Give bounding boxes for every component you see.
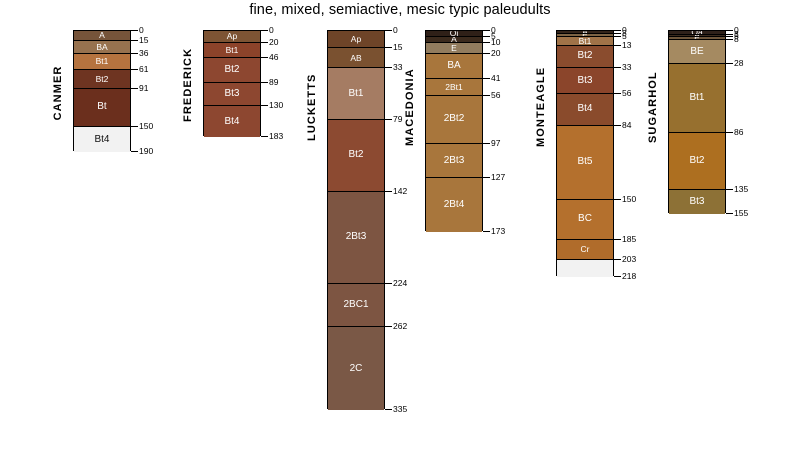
horizon-bt3: Bt3 bbox=[557, 68, 613, 94]
horizon-label: Bt2 bbox=[74, 75, 130, 84]
depth-tick-label: 8 bbox=[734, 35, 739, 44]
horizon-label: Bt1 bbox=[74, 57, 130, 66]
depth-tick-label: 20 bbox=[269, 38, 278, 47]
depth-tick-line bbox=[385, 326, 392, 327]
horizon-bt4: Bt4 bbox=[204, 106, 260, 137]
horizon-bt2: Bt2 bbox=[204, 58, 260, 83]
depth-tick-line bbox=[726, 213, 733, 214]
depth-tick-line bbox=[614, 33, 621, 34]
profile-name-label: MONTEAGLE bbox=[535, 32, 547, 182]
depth-tick-line bbox=[261, 105, 268, 106]
depth-tick-label: 173 bbox=[491, 227, 505, 236]
profile-name-label: FREDERICK bbox=[182, 32, 194, 138]
horizon-2c: 2C bbox=[328, 327, 384, 410]
profile-column: ABABt1Bt2BtBt4 bbox=[73, 30, 131, 151]
depth-tick-label: 79 bbox=[393, 115, 402, 124]
horizon-a: A bbox=[74, 31, 130, 41]
profile-name-label: LUCKETTS bbox=[306, 32, 318, 182]
horizon-label: Bt3 bbox=[204, 89, 260, 99]
depth-tick-line bbox=[261, 82, 268, 83]
depth-tick-line bbox=[483, 30, 490, 31]
horizon-bt1: Bt1 bbox=[328, 68, 384, 120]
horizon-2bt4: 2Bt4 bbox=[426, 178, 482, 231]
depth-tick-label: 33 bbox=[393, 63, 402, 72]
depth-tick-line bbox=[385, 47, 392, 48]
depth-tick-label: 28 bbox=[734, 59, 743, 68]
horizon-label: 2C bbox=[328, 364, 384, 374]
horizon-label: BC bbox=[557, 214, 613, 224]
depth-tick-line bbox=[131, 126, 138, 127]
horizon-label: Ap bbox=[328, 35, 384, 44]
depth-tick-label: 183 bbox=[269, 132, 283, 141]
horizon-unlabeled bbox=[557, 260, 613, 277]
depth-tick-line bbox=[614, 30, 621, 31]
depth-tick-label: 41 bbox=[491, 74, 500, 83]
depth-tick-label: 89 bbox=[269, 78, 278, 87]
horizon-ap: Ap bbox=[204, 31, 260, 43]
depth-tick-line bbox=[726, 63, 733, 64]
depth-tick-label: 190 bbox=[139, 147, 153, 156]
horizon-label: Bt2 bbox=[328, 150, 384, 160]
depth-tick-label: 91 bbox=[139, 84, 148, 93]
profile-column: AEBt1Bt2Bt3Bt4Bt5BCCr bbox=[556, 30, 614, 276]
horizon-label: Bt2 bbox=[557, 51, 613, 61]
horizon-2bt3: 2Bt3 bbox=[328, 192, 384, 285]
depth-tick-label: 56 bbox=[491, 91, 500, 100]
depth-tick-line bbox=[131, 88, 138, 89]
depth-tick-label: 0 bbox=[393, 26, 398, 35]
profile-column: OaAEBEBt1Bt2Bt3 bbox=[668, 30, 726, 213]
depth-tick-label: 15 bbox=[139, 36, 148, 45]
depth-tick-label: 130 bbox=[269, 101, 283, 110]
horizon-label: BE bbox=[669, 47, 725, 57]
horizon-cr: Cr bbox=[557, 240, 613, 260]
depth-tick-label: 335 bbox=[393, 405, 407, 414]
horizon-ba: BA bbox=[74, 41, 130, 54]
horizon-label: Bt5 bbox=[557, 157, 613, 167]
horizon-label: 2Bt1 bbox=[426, 83, 482, 92]
horizon-bt: Bt bbox=[74, 89, 130, 127]
depth-tick-line bbox=[614, 125, 621, 126]
horizon-ba: BA bbox=[426, 54, 482, 78]
depth-tick-line bbox=[131, 53, 138, 54]
depth-tick-line bbox=[385, 30, 392, 31]
depth-tick-label: 13 bbox=[622, 41, 631, 50]
horizon-label: A bbox=[74, 31, 130, 40]
depth-tick-line bbox=[261, 30, 268, 31]
depth-tick-line bbox=[726, 36, 733, 37]
horizon-bt2: Bt2 bbox=[328, 120, 384, 191]
horizon-bt1: Bt1 bbox=[74, 54, 130, 70]
depth-tick-line bbox=[726, 30, 733, 31]
depth-tick-label: 150 bbox=[139, 122, 153, 131]
horizon-label: 2Bt3 bbox=[426, 156, 482, 166]
depth-tick-label: 0 bbox=[139, 26, 144, 35]
horizon-label: 2Bt2 bbox=[426, 114, 482, 124]
depth-tick-label: 127 bbox=[491, 173, 505, 182]
depth-tick-line bbox=[483, 143, 490, 144]
horizon-label: Bt1 bbox=[204, 45, 260, 54]
depth-tick-line bbox=[614, 67, 621, 68]
horizon-ab: AB bbox=[328, 48, 384, 68]
depth-tick-label: 56 bbox=[622, 89, 631, 98]
horizon-bt5: Bt5 bbox=[557, 126, 613, 200]
horizon-bt1: Bt1 bbox=[557, 37, 613, 46]
horizon-bt1: Bt1 bbox=[669, 64, 725, 132]
soil-profile-figure: fine, mixed, semiactive, mesic typic pal… bbox=[0, 0, 800, 450]
horizon-label: BA bbox=[426, 61, 482, 71]
horizon-label: Bt1 bbox=[557, 37, 613, 45]
depth-tick-line bbox=[726, 39, 733, 40]
depth-tick-label: 135 bbox=[734, 185, 748, 194]
depth-tick-line bbox=[385, 119, 392, 120]
depth-tick-label: 46 bbox=[269, 53, 278, 62]
depth-tick-label: 0 bbox=[269, 26, 274, 35]
horizon-bc: BC bbox=[557, 200, 613, 239]
horizon-bt2: Bt2 bbox=[557, 46, 613, 69]
depth-tick-line bbox=[385, 191, 392, 192]
depth-tick-label: 36 bbox=[139, 49, 148, 58]
depth-tick-label: 33 bbox=[622, 63, 631, 72]
horizon-label: Ap bbox=[204, 32, 260, 41]
depth-tick-line bbox=[385, 409, 392, 410]
depth-tick-label: 155 bbox=[734, 209, 748, 218]
horizon-label: Bt4 bbox=[204, 117, 260, 127]
horizon-bt3: Bt3 bbox=[204, 83, 260, 107]
depth-tick-line bbox=[131, 69, 138, 70]
profile-name-label: MACEDONIA bbox=[404, 32, 416, 182]
depth-tick-label: 142 bbox=[393, 187, 407, 196]
depth-tick-line bbox=[483, 231, 490, 232]
depth-tick-line bbox=[614, 259, 621, 260]
depth-tick-line bbox=[261, 42, 268, 43]
profile-column: ApBt1Bt2Bt3Bt4 bbox=[203, 30, 261, 136]
horizon-label: Bt2 bbox=[669, 156, 725, 166]
profile-column: ApABBt1Bt22Bt32BC12C bbox=[327, 30, 385, 409]
depth-tick-line bbox=[261, 136, 268, 137]
depth-tick-line bbox=[131, 151, 138, 152]
horizon-label: BA bbox=[74, 43, 130, 52]
depth-tick-line bbox=[726, 189, 733, 190]
depth-tick-line bbox=[614, 36, 621, 37]
depth-tick-label: 150 bbox=[622, 195, 636, 204]
depth-tick-line bbox=[131, 40, 138, 41]
depth-tick-line bbox=[385, 283, 392, 284]
depth-tick-line bbox=[614, 276, 621, 277]
horizon-label: AB bbox=[328, 53, 384, 62]
horizon-label: Bt3 bbox=[557, 76, 613, 86]
horizon-ap: Ap bbox=[328, 31, 384, 48]
profile-column: OiAEBA2Bt12Bt22Bt32Bt4 bbox=[425, 30, 483, 231]
horizon-label: Bt4 bbox=[557, 104, 613, 114]
horizon-label: E bbox=[426, 44, 482, 53]
depth-tick-label: 20 bbox=[491, 49, 500, 58]
depth-tick-label: 84 bbox=[622, 121, 631, 130]
depth-tick-label: 61 bbox=[139, 65, 148, 74]
horizon-label: Bt1 bbox=[669, 93, 725, 103]
depth-tick-line bbox=[483, 78, 490, 79]
depth-tick-label: 5 bbox=[622, 32, 627, 41]
depth-tick-line bbox=[131, 30, 138, 31]
depth-tick-label: 97 bbox=[491, 139, 500, 148]
profile-name-label: SUGARHOL bbox=[647, 32, 659, 182]
depth-tick-line bbox=[614, 199, 621, 200]
depth-tick-line bbox=[614, 239, 621, 240]
depth-tick-line bbox=[261, 57, 268, 58]
horizon-label: Bt1 bbox=[328, 89, 384, 99]
horizon-label: 2Bt4 bbox=[426, 200, 482, 210]
depth-tick-line bbox=[483, 42, 490, 43]
depth-tick-label: 262 bbox=[393, 322, 407, 331]
horizon-label: Cr bbox=[557, 245, 613, 254]
horizon-label: Bt4 bbox=[74, 135, 130, 145]
depth-tick-line bbox=[385, 67, 392, 68]
depth-tick-line bbox=[726, 34, 733, 35]
horizon-2bt1: 2Bt1 bbox=[426, 79, 482, 96]
depth-tick-line bbox=[483, 53, 490, 54]
depth-tick-label: 15 bbox=[393, 43, 402, 52]
depth-tick-label: 224 bbox=[393, 279, 407, 288]
horizon-bt3: Bt3 bbox=[669, 190, 725, 214]
depth-tick-label: 86 bbox=[734, 128, 743, 137]
depth-tick-label: 203 bbox=[622, 255, 636, 264]
depth-tick-line bbox=[614, 93, 621, 94]
horizon-label: 2Bt3 bbox=[328, 232, 384, 242]
depth-tick-label: 185 bbox=[622, 235, 636, 244]
horizon-be: BE bbox=[669, 40, 725, 64]
horizon-bt4: Bt4 bbox=[557, 94, 613, 126]
profile-name-label: CANMER bbox=[52, 32, 64, 153]
horizon-bt2: Bt2 bbox=[74, 70, 130, 89]
horizon-bt1: Bt1 bbox=[204, 43, 260, 58]
horizon-2bt3: 2Bt3 bbox=[426, 144, 482, 179]
horizon-label: Bt2 bbox=[204, 65, 260, 75]
horizon-e: E bbox=[426, 43, 482, 55]
depth-tick-label: 10 bbox=[491, 38, 500, 47]
depth-tick-label: 218 bbox=[622, 272, 636, 281]
depth-tick-line bbox=[483, 36, 490, 37]
horizon-bt4: Bt4 bbox=[74, 127, 130, 153]
horizon-bt2: Bt2 bbox=[669, 133, 725, 191]
depth-tick-line bbox=[614, 45, 621, 46]
depth-tick-line bbox=[483, 177, 490, 178]
depth-tick-line bbox=[483, 95, 490, 96]
horizon-2bt2: 2Bt2 bbox=[426, 96, 482, 144]
horizon-2bc1: 2BC1 bbox=[328, 284, 384, 327]
figure-title: fine, mixed, semiactive, mesic typic pal… bbox=[0, 2, 800, 18]
horizon-label: Bt bbox=[74, 102, 130, 112]
horizon-label: 2BC1 bbox=[328, 300, 384, 310]
horizon-label: Bt3 bbox=[669, 197, 725, 207]
depth-tick-line bbox=[726, 132, 733, 133]
